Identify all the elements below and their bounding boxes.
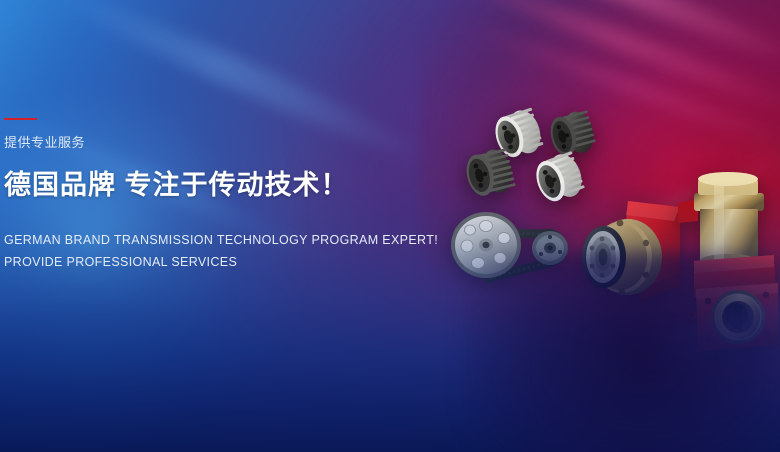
- banner-text-block: 提供专业服务 德国品牌 专注于传动技术！ GERMAN BRAND TRANSM…: [4, 118, 424, 274]
- banner-headline: 德国品牌 专注于传动技术！: [4, 171, 424, 200]
- accent-rule: [4, 118, 37, 120]
- banner-eyebrow: 提供专业服务: [4, 136, 424, 149]
- promo-banner: 提供专业服务 德国品牌 专注于传动技术！ GERMAN BRAND TRANSM…: [0, 0, 780, 452]
- background-dark-corner: [460, 252, 780, 452]
- banner-subtitle-line-2: PROVIDE PROFESSIONAL SERVICES: [4, 252, 424, 274]
- banner-subtitle-line-1: GERMAN BRAND TRANSMISSION TECHNOLOGY PRO…: [4, 230, 424, 252]
